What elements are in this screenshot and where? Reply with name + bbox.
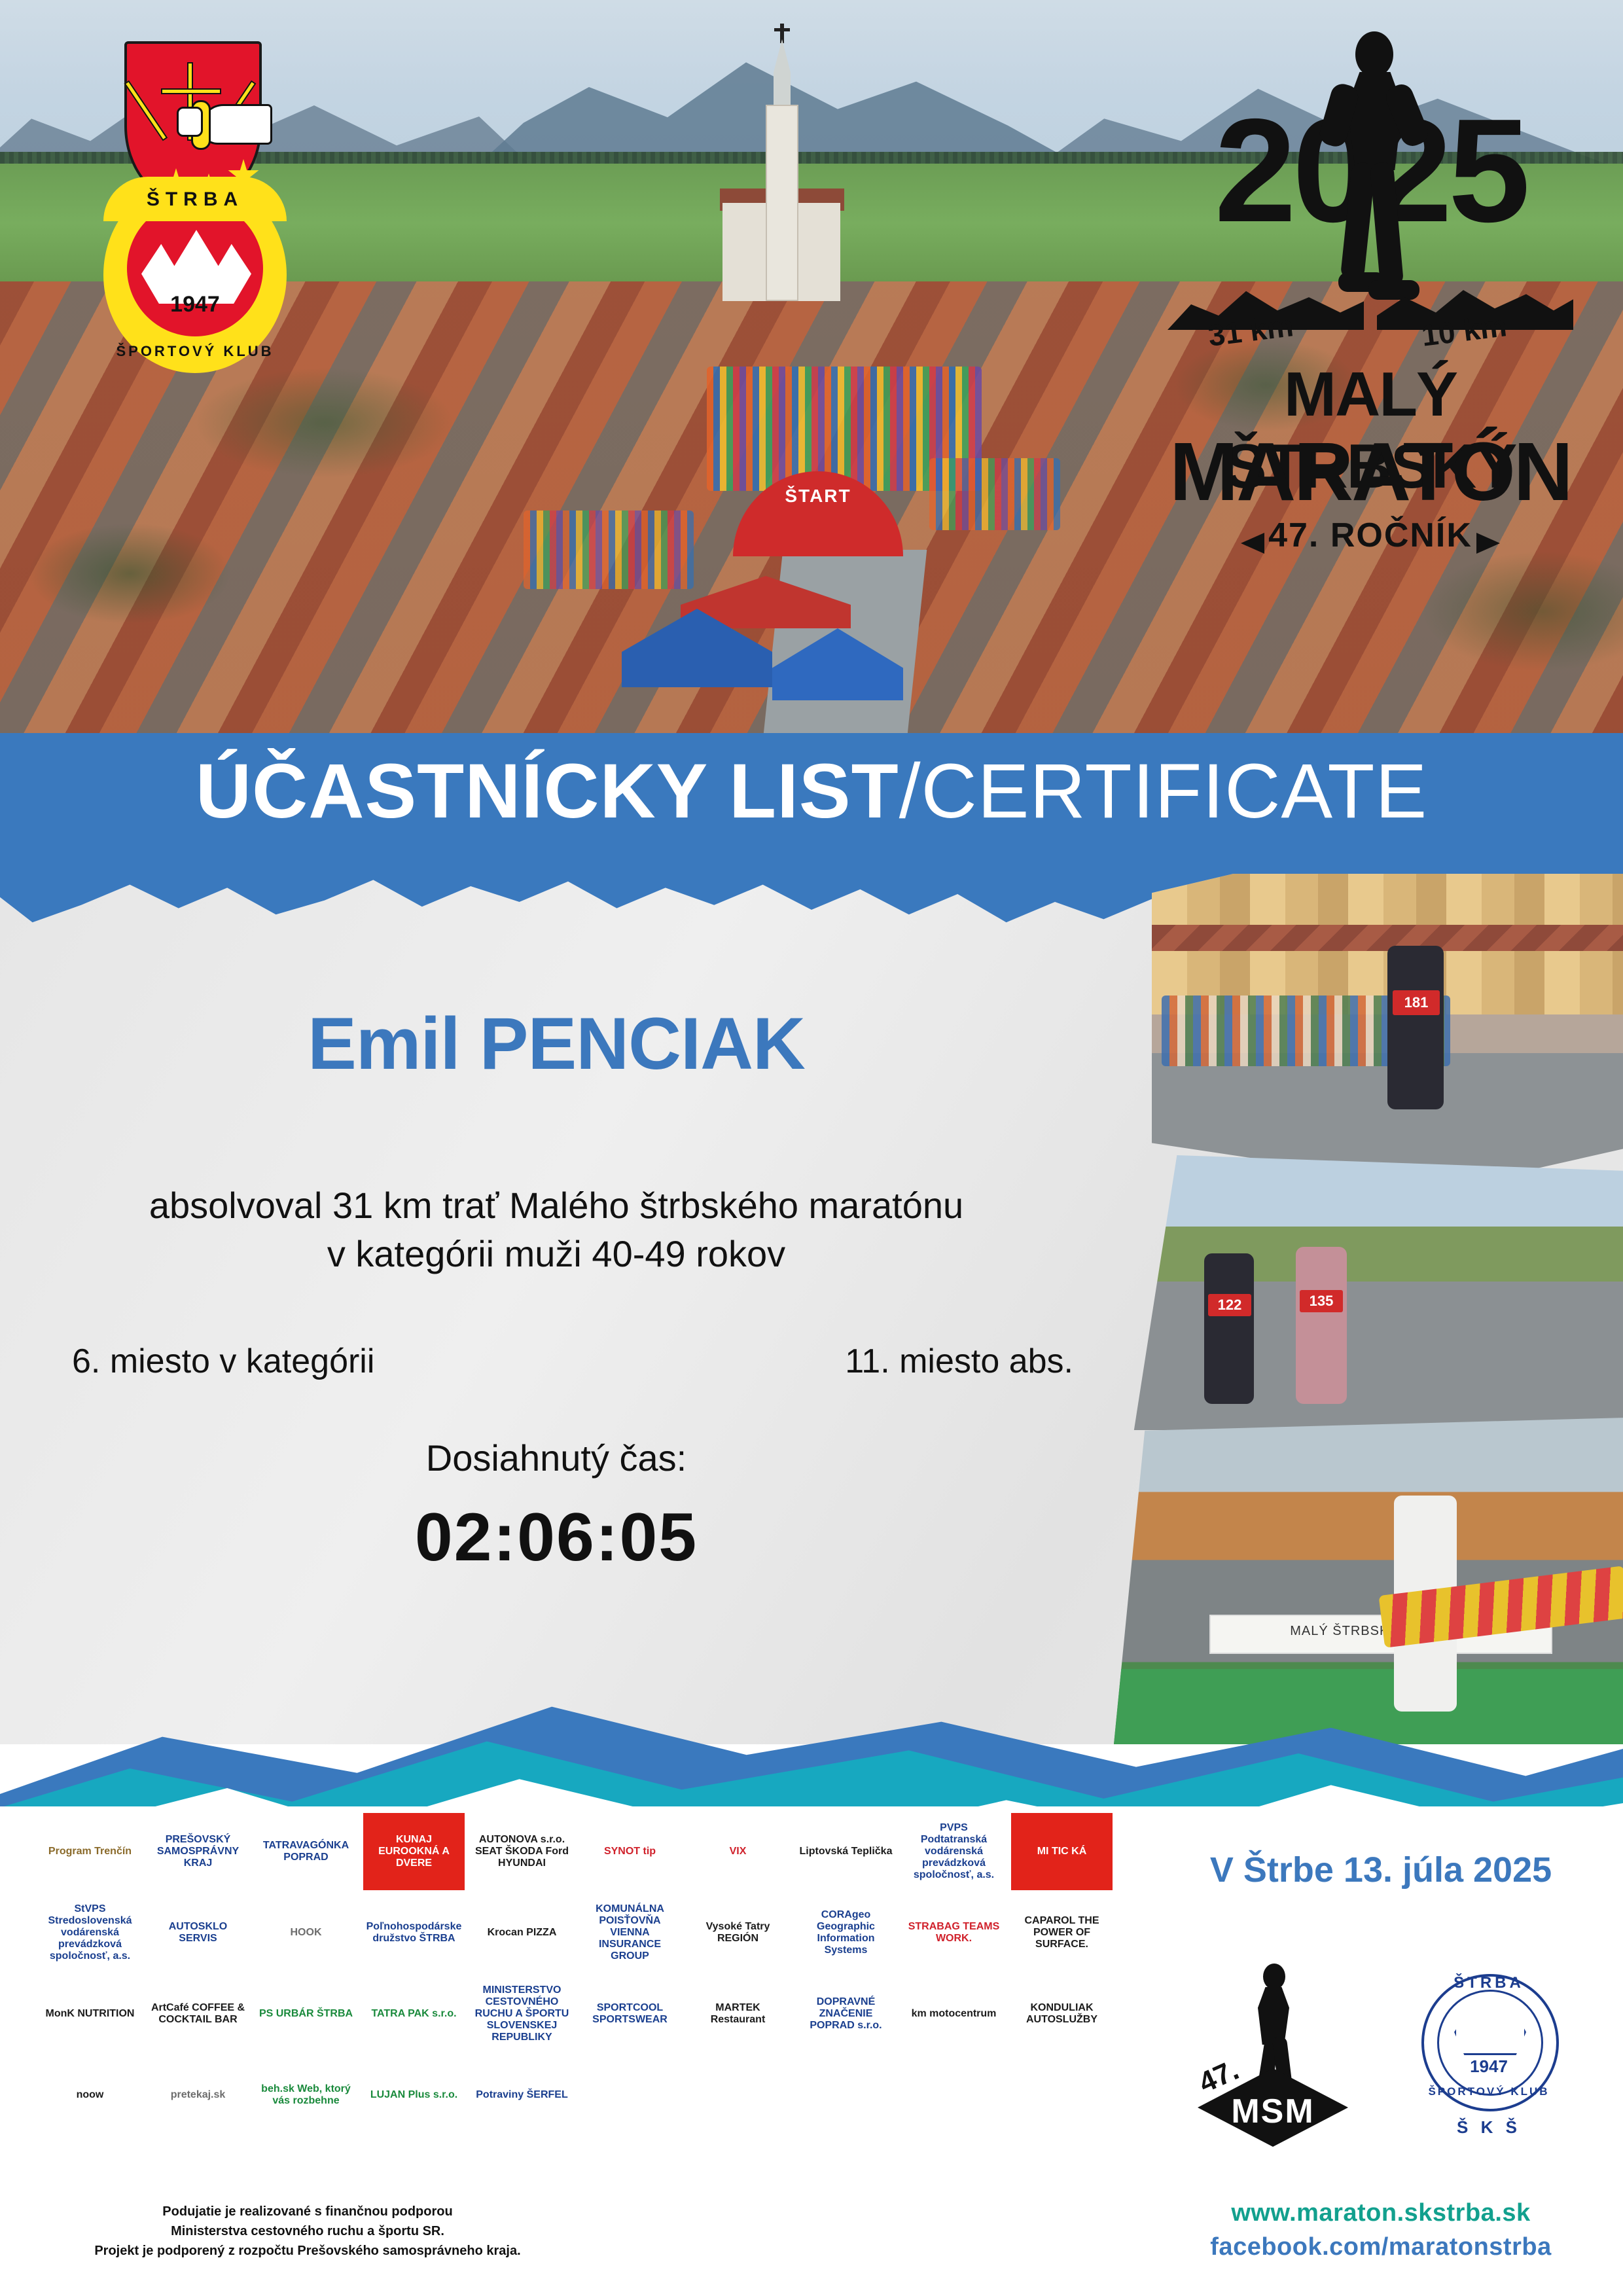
distance-left-label: 31 km [1206,308,1295,353]
bib-number: 135 [1300,1290,1343,1312]
church-spire [774,39,791,111]
sponsor-logo: LUJAN Plus s.r.o. [363,2056,465,2134]
event-logo: 2025 31 km 10 km MALÝ ŠTRBSKÝ MARATÓN 47… [1161,31,1580,607]
sponsor-logo: TATRA PAK s.r.o. [363,1975,465,2053]
certificate-title-banner: ÚČASTNÍCKY LIST/CERTIFICATE [0,733,1623,877]
runner-icon [1254,1964,1289,2062]
sponsor-logo: VIX [687,1813,789,1890]
stamp-top-label: ŠTRBA [1407,1974,1571,1992]
participant-name: Emil PENCIAK [0,1001,1113,1086]
sponsor-logo: beh.sk Web, ktorý vás rozbehne [255,2056,357,2134]
title-separator: / [899,748,921,834]
place-absolute: 11. miesto abs. [845,1342,1073,1381]
funding-note-line-1: Podujatie je realizované s finančnou pod… [59,2202,556,2221]
sponsor-logo: Vysoké Tatry REGIÓN [687,1894,789,1971]
sponsor-logo: KONDULIAK AUTOSLUŽBY [1011,1975,1113,2053]
sponsor-logo: PVPS Podtatranská vodárenská prevádzková… [903,1813,1005,1890]
sponsor-logo: PREŠOVSKÝ SAMOSPRÁVNY KRAJ [147,1813,249,1890]
sponsor-logo-grid: Program TrenčínPREŠOVSKÝ SAMOSPRÁVNY KRA… [39,1813,1152,2206]
sponsor-logo: CAPAROL THE POWER OF SURFACE. [1011,1894,1113,1971]
sponsor-logo: Potraviny ŠERFEL [471,2056,573,2134]
stamp-middle-label: ŠPORTOVÝ KLUB [1407,2085,1571,2098]
msm-acronym: MSM [1198,2092,1348,2131]
sponsor-logo: SYNOT tip [579,1813,681,1890]
runners-uphill-photo: 122 135 [1113,1155,1623,1430]
sport-club-badge: ŠTRBA 1947 ŠPORTOVÝ KLUB [103,177,287,373]
sponsor-logo: TATRAVAGÓNKA POPRAD [255,1813,357,1890]
badge-top-band: ŠTRBA [103,177,287,221]
msm-mark: 47. MSM [1191,1957,1355,2153]
title-slovak: ÚČASTNÍCKY LIST [196,748,899,834]
time-label: Dosiahnutý čas: [0,1437,1113,1479]
badge-top-label: ŠTRBA [103,188,287,211]
sponsor-logo: Program Trenčín [39,1813,141,1890]
sponsor-logo: MINISTERSTVO CESTOVNÉHO RUCHU A ŠPORTU S… [471,1975,573,2053]
certificate-description: absolvoval 31 km trať Malého štrbského m… [0,1181,1113,1278]
event-title-line2: MARATÓN [1161,424,1580,519]
sponsor-logo: Poľnohospodárske družstvo ŠTRBA [363,1894,465,1971]
sponsor-logo: AUTONOVA s.r.o. SEAT ŠKODA Ford HYUNDAI [471,1813,573,1890]
finish-time: 02:06:05 [0,1499,1113,1577]
website-link[interactable]: www.maraton.skstrba.sk [1165,2199,1597,2227]
race-crowd [524,511,694,589]
place-in-category: 6. miesto v kategórii [72,1342,374,1381]
sponsor-logo: MonK NUTRITION [39,1975,141,2053]
funding-note-line-3: Projekt je podporený z rozpočtu Prešovsk… [59,2241,556,2261]
bib-number: 122 [1208,1294,1251,1316]
facebook-link[interactable]: facebook.com/maratonstrba [1165,2233,1597,2261]
sponsor-logo: DOPRAVNÉ ZNAČENIE POPRAD s.r.o. [795,1975,897,2053]
runner-silhouette-icon [1328,31,1419,306]
sponsor-logo: HOOK [255,1894,357,1971]
sponsor-logo: STRABAG TEAMS WORK. [903,1894,1005,1971]
description-line-2: v kategórii muži 40-49 rokov [0,1230,1113,1278]
sponsor-logo: KUNAJ EUROOKNÁ A DVERE [363,1813,465,1890]
sponsor-logo: km motocentrum [903,1975,1005,2053]
sponsor-logo: KOMUNÁLNA POISŤOVŇA VIENNA INSURANCE GRO… [579,1894,681,1971]
sponsor-logo: ArtCafé COFFEE & COCKTAIL BAR [147,1975,249,2053]
stamp-year: 1947 [1407,2056,1571,2077]
footer-right-column: V Štrbe 13. júla 2025 47. MSM ŠTRBA 1947… [1165,1806,1597,2296]
title-english: CERTIFICATE [921,748,1427,834]
badge-year: 1947 [103,292,287,317]
church-building [740,39,825,314]
badge-bottom-label: ŠPORTOVÝ KLUB [103,331,287,372]
sponsor-logo: Krocan PIZZA [471,1894,573,1971]
bib-number: 181 [1393,990,1440,1015]
stamp-bottom-label: Š K Š [1407,2117,1571,2138]
sks-stamp: ŠTRBA 1947 ŠPORTOVÝ KLUB Š K Š [1407,1957,1571,2153]
sponsor-footer: Program TrenčínPREŠOVSKÝ SAMOSPRÁVNY KRA… [0,1806,1623,2296]
sponsor-logo: AUTOSKLO SERVIS [147,1894,249,1971]
sponsor-logo: MARTEK Restaurant [687,1975,789,2053]
sponsor-logo: SPORTCOOL SPORTSWEAR [579,1975,681,2053]
issue-date: V Štrbe 13. júla 2025 [1165,1850,1597,1890]
description-line-1: absolvoval 31 km trať Malého štrbského m… [0,1181,1113,1230]
funding-note: Podujatie je realizované s finančnou pod… [59,2202,556,2261]
event-edition: 47. ROČNÍK [1161,516,1580,555]
page-title: ÚČASTNÍCKY LIST/CERTIFICATE [0,753,1623,830]
arm-shape [200,104,272,145]
start-label: ŠTART [733,486,903,507]
race-crowd [929,458,1060,530]
organiser-marks: 47. MSM ŠTRBA 1947 ŠPORTOVÝ KLUB Š K Š [1165,1937,1597,2173]
fist-shape [177,107,203,137]
sponsor-logo: StVPS Stredoslovenská vodárenská prevádz… [39,1894,141,1971]
funding-note-line-2: Ministerstva cestovného ruchu a športu S… [59,2221,556,2241]
sponsor-logo: Liptovská Teplička [795,1813,897,1890]
placement-row: 6. miesto v kategórii 11. miesto abs. [72,1342,1073,1381]
hero-photo: ŠTART ŠTRBA ŠTRBA 1947 ŠPORTOVÝ KLUB [0,0,1623,753]
sponsor-logo: MI TIC KÁ [1011,1813,1113,1890]
cross-bar [161,88,221,94]
church-tower [766,105,798,301]
sponsor-logo: pretekaj.sk [147,2056,249,2134]
photo-collage: 181 122 135 MALÝ ŠTRBSKÝ MARATÓN [1113,874,1623,1744]
sponsor-logo: noow [39,2056,141,2134]
finisher-photo: 181 [1152,874,1623,1188]
sponsor-logo: CORAgeo Geographic Information Systems [795,1894,897,1971]
sponsor-logo: PS URBÁR ŠTRBA [255,1975,357,2053]
